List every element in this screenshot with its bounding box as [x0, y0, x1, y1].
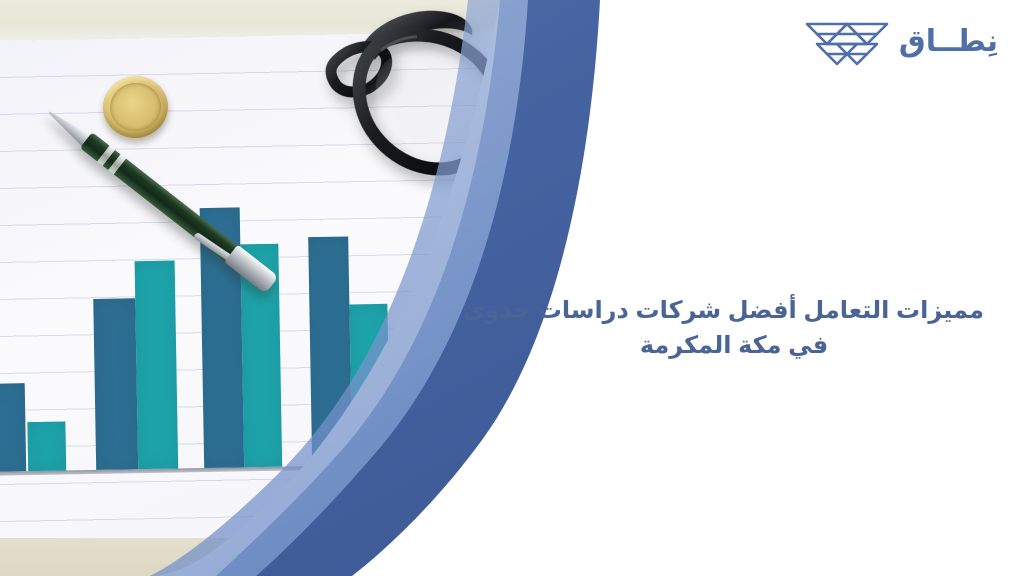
headline-line-1: مميزات التعامل أفضل شركات دراسات جدوى — [484, 294, 984, 329]
triangular-lattice-icon — [805, 14, 889, 70]
brand-logo[interactable]: نِطــاق — [805, 14, 998, 70]
curved-divider — [0, 0, 1024, 576]
logo-wordmark: نِطــاق — [899, 27, 998, 57]
headline-line-2: في مكة المكرمة — [484, 329, 984, 364]
page-title: مميزات التعامل أفضل شركات دراسات جدوى في… — [484, 294, 984, 364]
slide-canvas: نِطــاق مميزات الت — [0, 0, 1024, 576]
